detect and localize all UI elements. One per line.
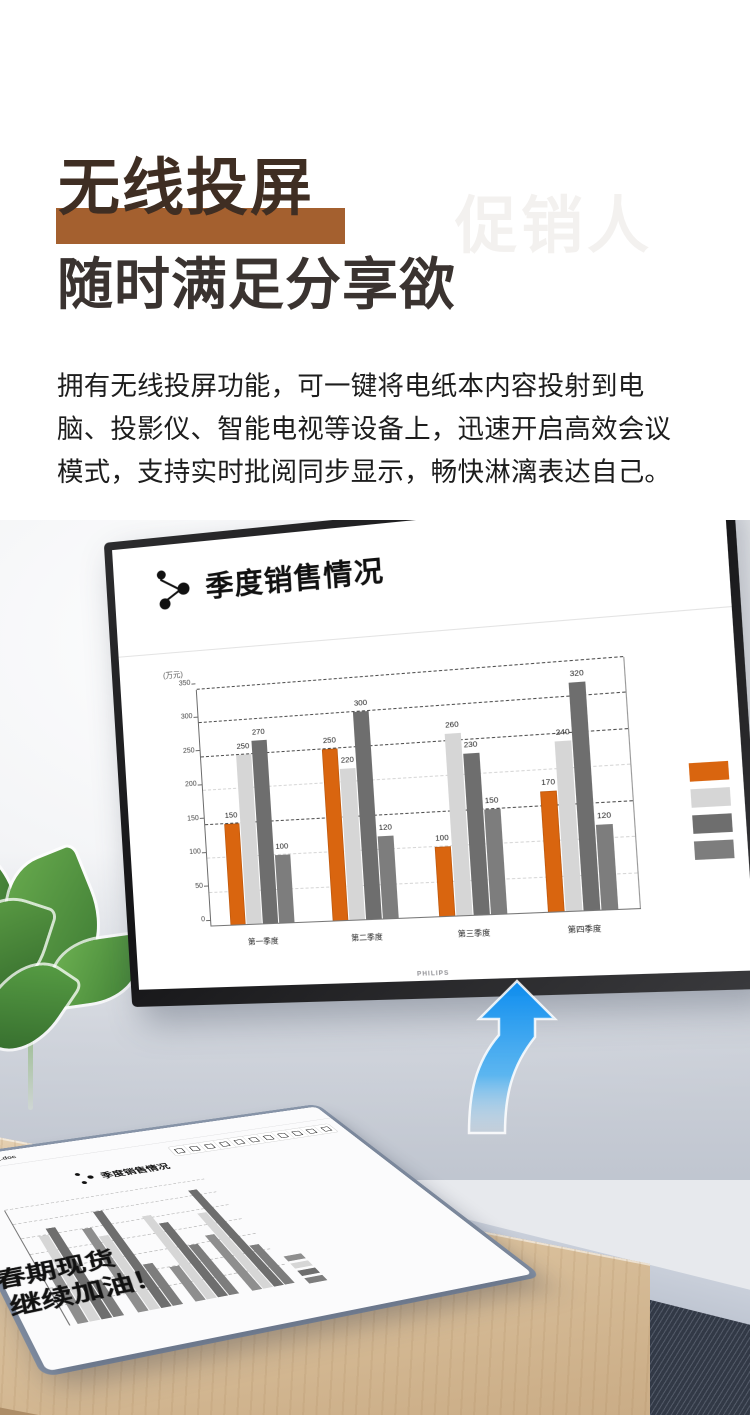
bar-value-label: 260 [445, 719, 459, 729]
y-axis-tick: 50 [195, 882, 203, 889]
y-axis-tick: 200 [185, 781, 197, 789]
x-axis-category-label: 第一季度 [248, 935, 279, 947]
bar-value-label: 150 [224, 810, 237, 820]
product-scene-photo: 季度销售情况 (万元) 050100150200250300350 150250… [0, 520, 750, 1415]
bar-group: 170240320120第四季度 [512, 657, 640, 914]
x-axis-category-label: 第四季度 [567, 923, 601, 936]
bar-value-label: 270 [252, 726, 265, 736]
share-node-icon [157, 567, 193, 610]
legend-swatch [694, 840, 735, 860]
y-axis-tick: 350 [179, 680, 191, 688]
legend-swatch [690, 787, 731, 808]
bar-value-label: 320 [569, 668, 584, 679]
bar-value-label: 300 [354, 698, 368, 708]
y-axis-unit-label: (万元) [163, 669, 183, 682]
bar-group: 150250270100第一季度 [197, 682, 314, 927]
plot-area: 150250270100第一季度250220300120第二季度10026023… [196, 657, 641, 927]
bar-group: 250220300120第二季度 [298, 674, 418, 922]
page-title: 无线投屏 [58, 158, 314, 220]
bar-value-label: 100 [435, 833, 449, 843]
legend-swatch [689, 761, 730, 782]
bar-value-label: 240 [555, 726, 570, 737]
share-node-icon [74, 1171, 98, 1184]
page-subtitle: 随时满足分享欲 [57, 253, 456, 317]
tablet-slide-title: 季度销售情况 [97, 1161, 172, 1180]
tv-brand-logo: PHILIPS [417, 971, 450, 978]
bar-value-label: 230 [463, 739, 477, 749]
x-axis-category-label: 第三季度 [457, 927, 490, 940]
bar-group: 100260230150第三季度 [403, 666, 527, 918]
x-axis-category-label: 第二季度 [351, 931, 383, 944]
y-axis-tick: 250 [183, 747, 195, 755]
y-axis-tick: 100 [189, 848, 201, 856]
y-axis-tick: 300 [181, 713, 193, 721]
y-axis-tick: 0 [201, 916, 205, 923]
bar-value-label: 170 [541, 777, 555, 787]
chart-legend [689, 761, 735, 860]
projected-slide: 季度销售情况 (万元) 050100150200250300350 150250… [112, 520, 750, 990]
bar-value-label: 220 [340, 755, 354, 765]
header-section: 促销人 无线投屏 随时满足分享欲 拥有无线投屏功能，可一键将电纸本内容投射到电脑… [0, 0, 750, 530]
bar-value-label: 120 [378, 822, 392, 832]
bar-groups: 150250270100第一季度250220300120第二季度10026023… [197, 657, 640, 926]
page-description: 拥有无线投屏功能，可一键将电纸本内容投射到电脑、投影仪、智能电视等设备上，迅速开… [57, 365, 697, 494]
tv-bezel: 季度销售情况 (万元) 050100150200250300350 150250… [104, 520, 750, 1007]
bar-value-label: 150 [484, 795, 498, 805]
tablet-legend-swatch [304, 1275, 327, 1284]
slide-title: 季度销售情况 [204, 548, 385, 605]
y-axis-tick: 150 [187, 815, 199, 823]
legend-swatch [692, 813, 733, 834]
chart-bar: 100 [275, 855, 295, 924]
slide-header: 季度销售情况 [157, 548, 386, 610]
bar-value-label: 120 [597, 810, 612, 820]
bar-chart: (万元) 050100150200250300350 150250270100第… [155, 633, 732, 955]
bar-value-label: 250 [323, 735, 337, 745]
background-watermark: 促销人 [455, 175, 653, 265]
tv-screen: 季度销售情况 (万元) 050100150200250300350 150250… [112, 520, 750, 990]
bar-value-label: 100 [275, 841, 288, 851]
bar-value-label: 250 [236, 741, 249, 751]
upward-projection-arrow [455, 975, 570, 1135]
wall-mounted-tv: 季度销售情况 (万元) 050100150200250300350 150250… [104, 520, 750, 1007]
